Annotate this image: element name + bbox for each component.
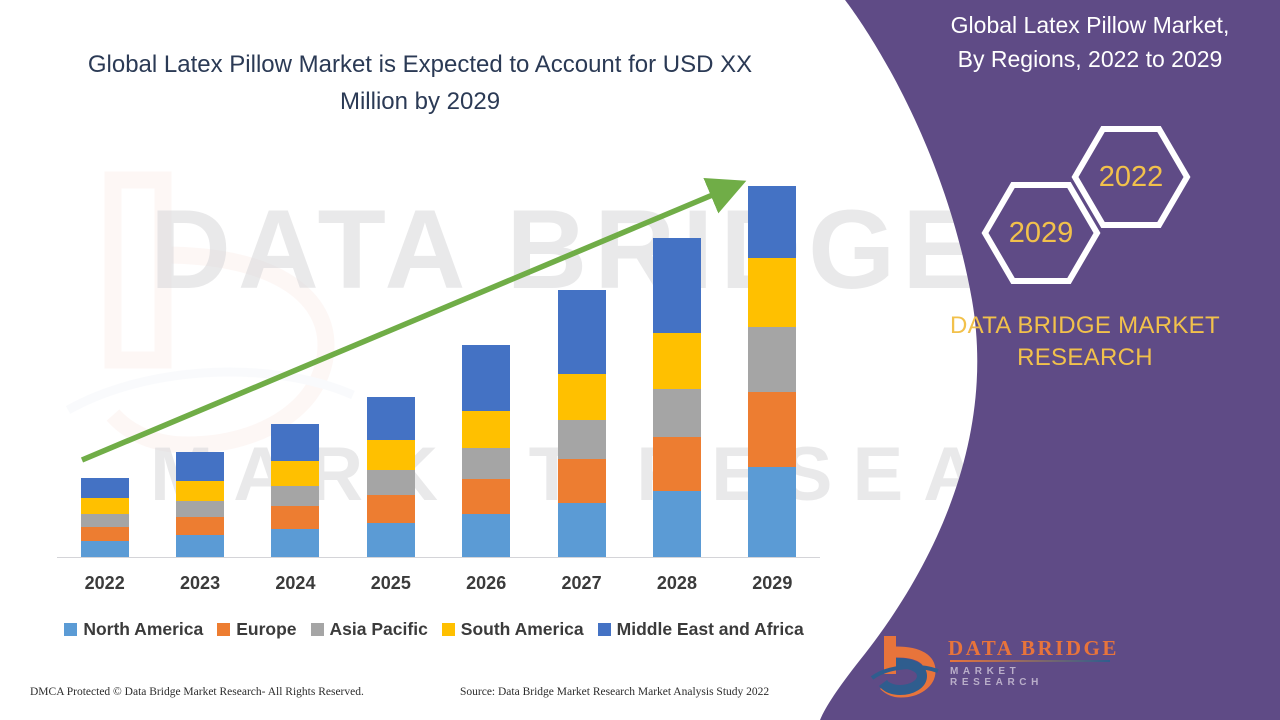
bar-2029[interactable] [748, 186, 796, 557]
footer-copyright: DMCA Protected © Data Bridge Market Rese… [30, 686, 364, 698]
bar-segment-north-america[interactable] [748, 467, 796, 557]
legend-label: South America [461, 619, 584, 640]
x-axis-label-2024: 2024 [248, 573, 343, 594]
panel-title-line-1: Global Latex Pillow Market, [900, 8, 1280, 42]
bar-segment-south-america[interactable] [176, 481, 224, 501]
bar-segment-middle-east-and-africa[interactable] [367, 397, 415, 440]
bar-2022[interactable] [81, 478, 129, 557]
bar-segment-north-america[interactable] [367, 523, 415, 557]
bar-segment-middle-east-and-africa[interactable] [558, 290, 606, 374]
bar-segment-north-america[interactable] [271, 529, 319, 557]
bar-segment-south-america[interactable] [81, 498, 129, 514]
bar-segment-europe[interactable] [558, 459, 606, 503]
x-axis-label-2026: 2026 [439, 573, 534, 594]
legend-swatch-icon [598, 623, 611, 636]
logo-subtitle: MARKET RESEARCH [950, 666, 1120, 688]
bar-2023[interactable] [176, 452, 224, 557]
legend-item-north-america[interactable]: North America [64, 619, 203, 640]
slide-root: DATA BRIDGE MARKET RESEARCH Global Latex… [0, 0, 1280, 720]
legend-item-europe[interactable]: Europe [217, 619, 296, 640]
panel-brand: DATA BRIDGE MARKET RESEARCH [920, 310, 1250, 374]
legend-swatch-icon [64, 623, 77, 636]
x-axis-label-2025: 2025 [343, 573, 438, 594]
right-panel: Global Latex Pillow Market, By Regions, … [820, 0, 1280, 720]
bar-segment-europe[interactable] [462, 479, 510, 514]
footer-source: Source: Data Bridge Market Research Mark… [460, 686, 769, 698]
bar-segment-south-america[interactable] [367, 440, 415, 470]
bar-2026[interactable] [462, 345, 510, 557]
x-axis-labels: 20222023202420252026202720282029 [57, 573, 820, 601]
bar-segment-asia-pacific[interactable] [367, 470, 415, 495]
data-bridge-logo: DATA BRIDGE MARKET RESEARCH [870, 630, 1120, 700]
panel-title: Global Latex Pillow Market, By Regions, … [820, 8, 1280, 76]
legend-item-middle-east-and-africa[interactable]: Middle East and Africa [598, 619, 804, 640]
bar-2024[interactable] [271, 424, 319, 557]
bar-segment-south-america[interactable] [271, 461, 319, 486]
panel-brand-line-1: DATA BRIDGE MARKET [920, 310, 1250, 342]
bar-2025[interactable] [367, 397, 415, 557]
bar-segment-europe[interactable] [748, 392, 796, 467]
bar-segment-asia-pacific[interactable] [462, 448, 510, 479]
legend-label: Asia Pacific [330, 619, 428, 640]
bar-segment-north-america[interactable] [653, 491, 701, 557]
x-axis-label-2022: 2022 [57, 573, 152, 594]
bar-segment-asia-pacific[interactable] [748, 327, 796, 392]
logo-mark-icon [870, 630, 940, 700]
panel-title-line-2: By Regions, 2022 to 2029 [900, 42, 1280, 76]
panel-brand-line-2: RESEARCH [920, 342, 1250, 374]
legend-item-south-america[interactable]: South America [442, 619, 584, 640]
chart-plot-area: 20222023202420252026202720282029 [0, 0, 860, 720]
chart-legend: North AmericaEuropeAsia PacificSouth Ame… [46, 617, 836, 641]
bar-2027[interactable] [558, 290, 606, 557]
bar-segment-north-america[interactable] [81, 541, 129, 557]
legend-label: Europe [236, 619, 296, 640]
x-axis-label-2028: 2028 [629, 573, 724, 594]
legend-label: Middle East and Africa [617, 619, 804, 640]
logo-title: DATA BRIDGE [948, 636, 1119, 661]
bar-segment-north-america[interactable] [462, 514, 510, 557]
bar-segment-europe[interactable] [176, 517, 224, 535]
hexagon-year-2022: 2022 [1099, 161, 1164, 193]
legend-swatch-icon [217, 623, 230, 636]
bar-segment-asia-pacific[interactable] [176, 501, 224, 517]
bar-segment-europe[interactable] [81, 527, 129, 541]
hexagon-badges: 2029 2022 [975, 115, 1195, 290]
x-axis-label-2027: 2027 [534, 573, 629, 594]
bar-2028[interactable] [653, 238, 701, 557]
x-axis-label-2023: 2023 [153, 573, 248, 594]
bar-segment-middle-east-and-africa[interactable] [81, 478, 129, 498]
bar-segment-south-america[interactable] [653, 333, 701, 389]
legend-swatch-icon [442, 623, 455, 636]
bar-segment-europe[interactable] [653, 437, 701, 491]
bar-segment-middle-east-and-africa[interactable] [653, 238, 701, 333]
bar-segment-north-america[interactable] [558, 503, 606, 557]
bar-segment-middle-east-and-africa[interactable] [462, 345, 510, 411]
bar-segment-asia-pacific[interactable] [271, 486, 319, 506]
trend-arrow-icon [0, 0, 860, 720]
bar-segment-south-america[interactable] [462, 411, 510, 448]
bar-segment-europe[interactable] [367, 495, 415, 523]
bar-segment-asia-pacific[interactable] [81, 514, 129, 527]
bar-segment-asia-pacific[interactable] [558, 420, 606, 459]
hexagon-year-2029: 2029 [1009, 217, 1074, 249]
bar-segment-middle-east-and-africa[interactable] [176, 452, 224, 481]
bar-segment-south-america[interactable] [748, 258, 796, 327]
logo-divider [950, 660, 1110, 662]
bar-segment-middle-east-and-africa[interactable] [748, 186, 796, 258]
legend-label: North America [83, 619, 203, 640]
x-axis-label-2029: 2029 [725, 573, 820, 594]
bar-segment-south-america[interactable] [558, 374, 606, 420]
bar-segment-middle-east-and-africa[interactable] [271, 424, 319, 461]
legend-swatch-icon [311, 623, 324, 636]
legend-item-asia-pacific[interactable]: Asia Pacific [311, 619, 428, 640]
bar-segment-asia-pacific[interactable] [653, 389, 701, 437]
bar-segment-europe[interactable] [271, 506, 319, 529]
bar-segment-north-america[interactable] [176, 535, 224, 557]
